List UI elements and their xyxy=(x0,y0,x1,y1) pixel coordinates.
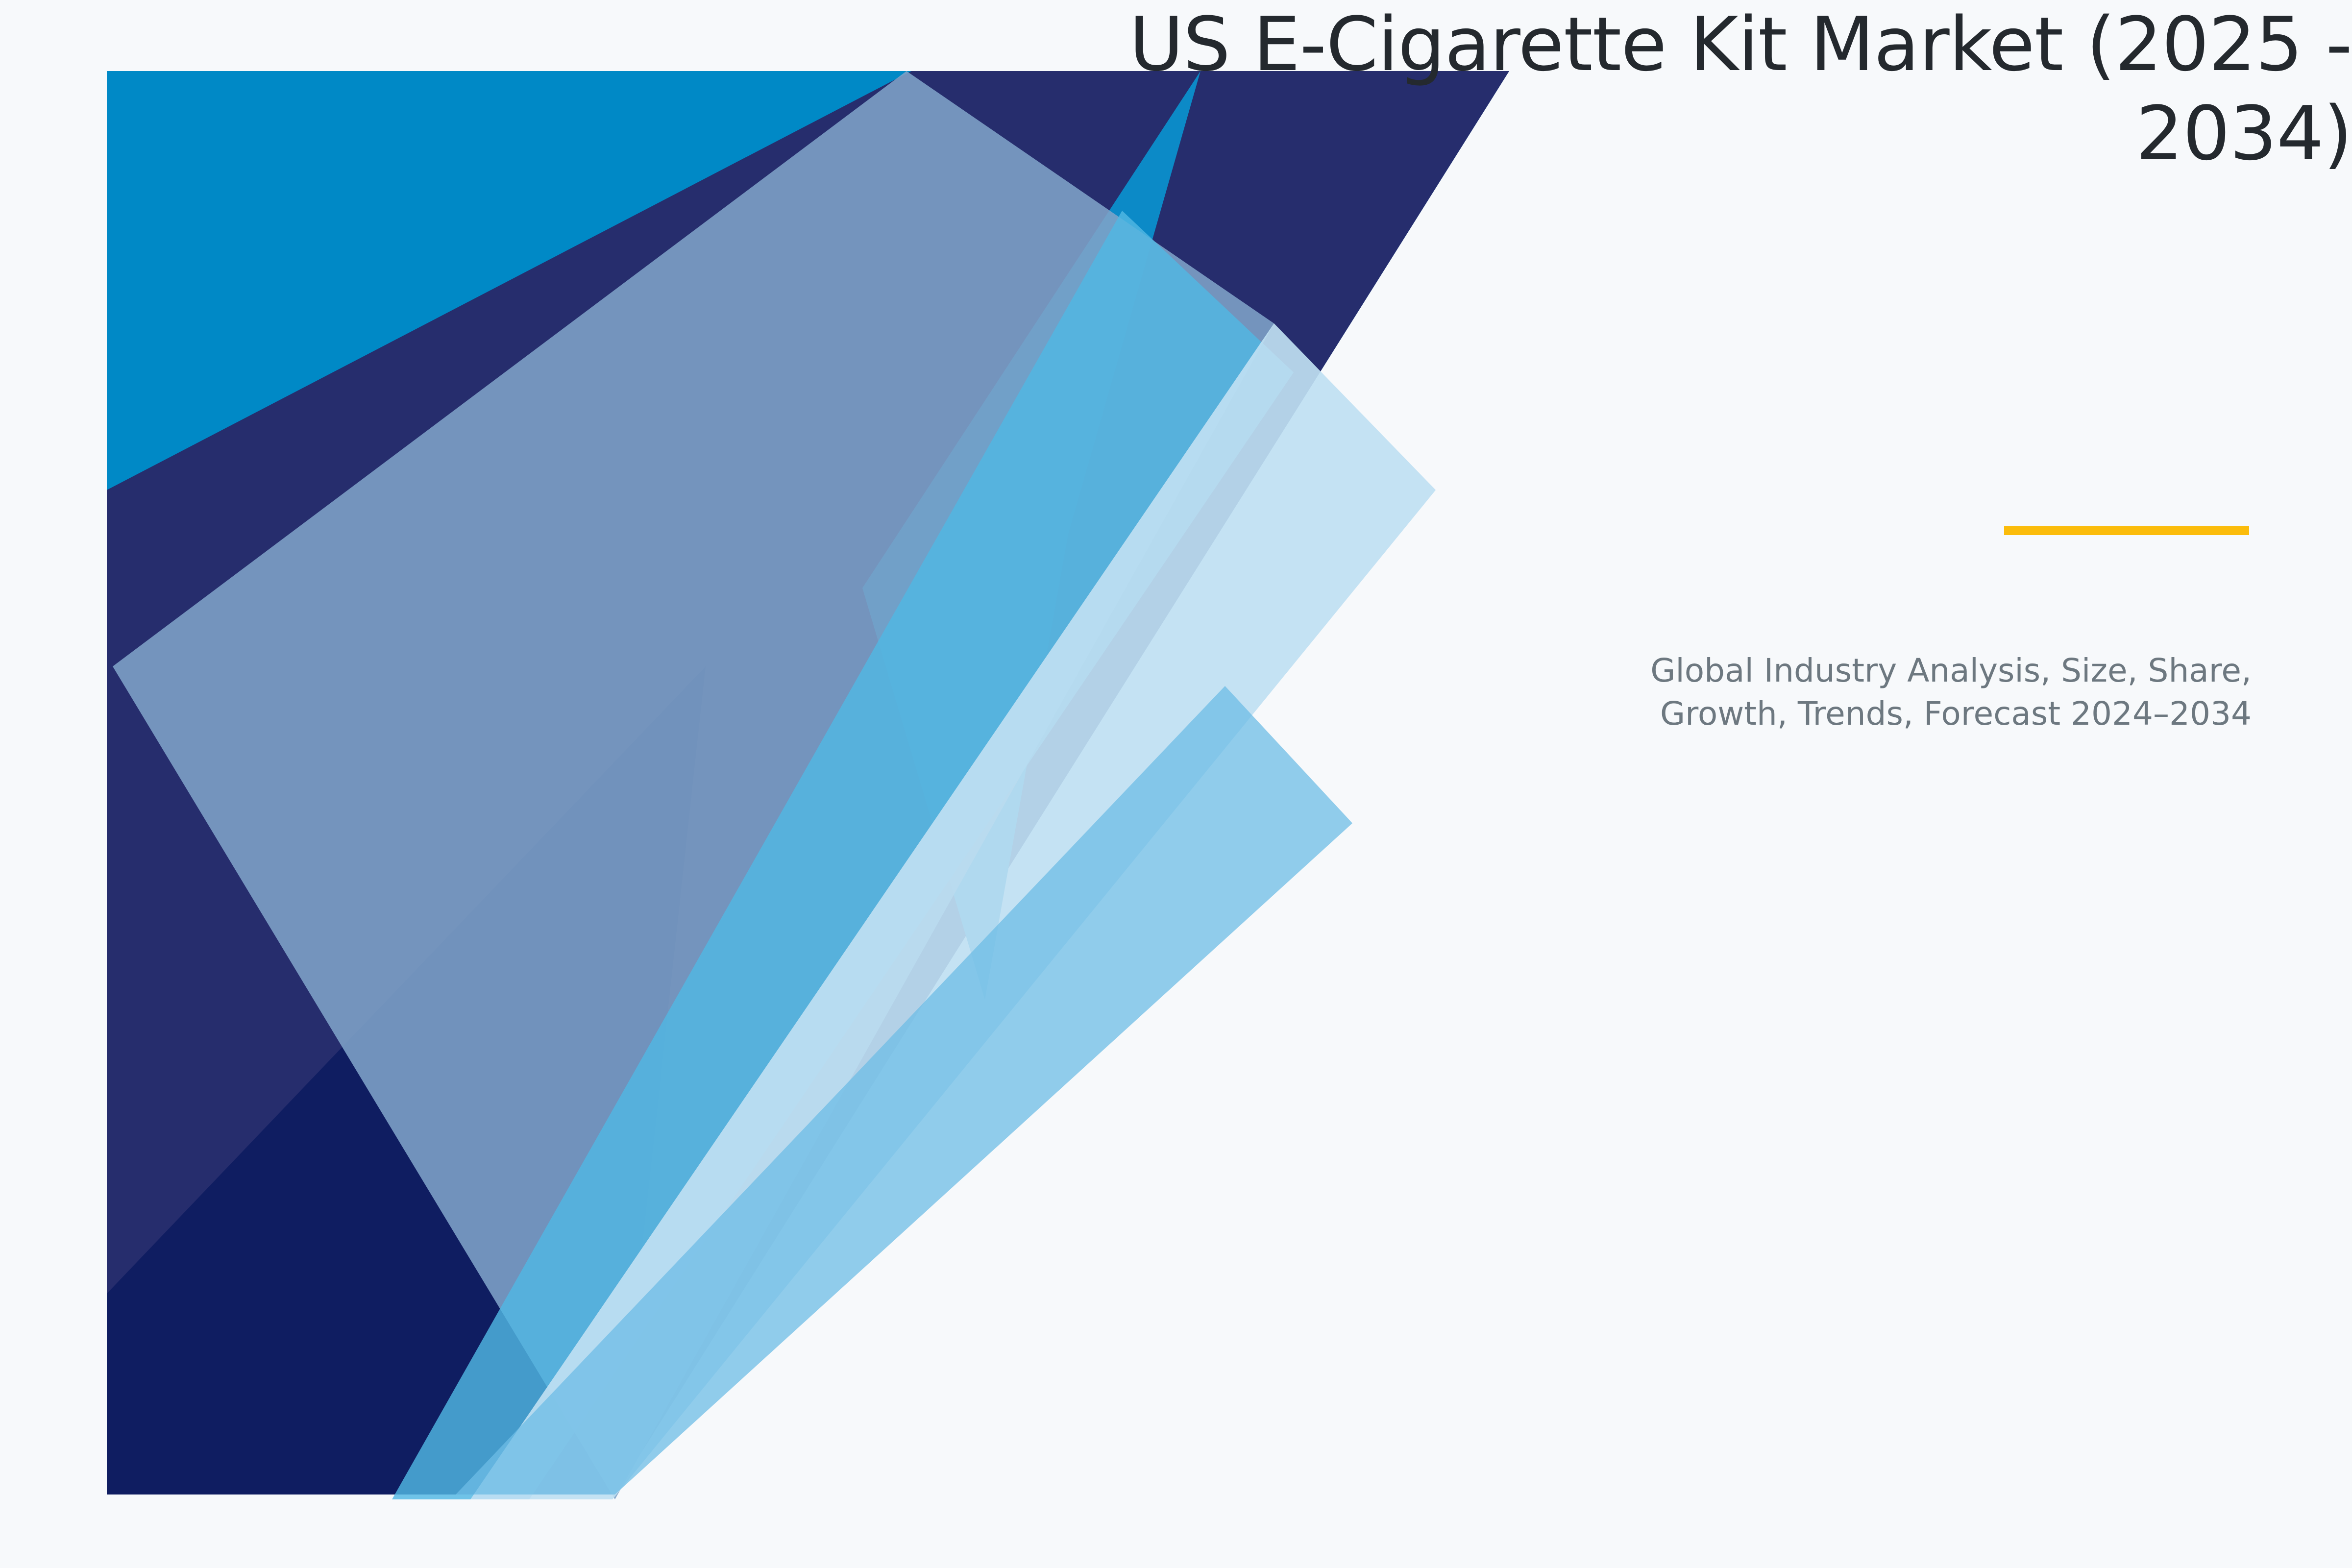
page-subtitle-line-1: Global Industry Analysis, Size, Share, xyxy=(1650,652,2252,689)
title-underline-accent xyxy=(2004,526,2249,535)
page-title: US E-Cigarette Kit Market (2025 -2034) xyxy=(0,0,2352,179)
abstract-geometric-banner xyxy=(0,0,2352,1568)
page-subtitle-line-2: Growth, Trends, Forecast 2024–2034 xyxy=(1660,695,2252,733)
page-title-line-1: US E-Cigarette Kit Market (2025 - xyxy=(1129,1,2352,88)
slide-canvas: US E-Cigarette Kit Market (2025 -2034) G… xyxy=(0,0,2352,1568)
page-subtitle: Global Industry Analysis, Size, Share,Gr… xyxy=(1004,649,2252,735)
page-title-line-2: 2034) xyxy=(2136,90,2352,177)
